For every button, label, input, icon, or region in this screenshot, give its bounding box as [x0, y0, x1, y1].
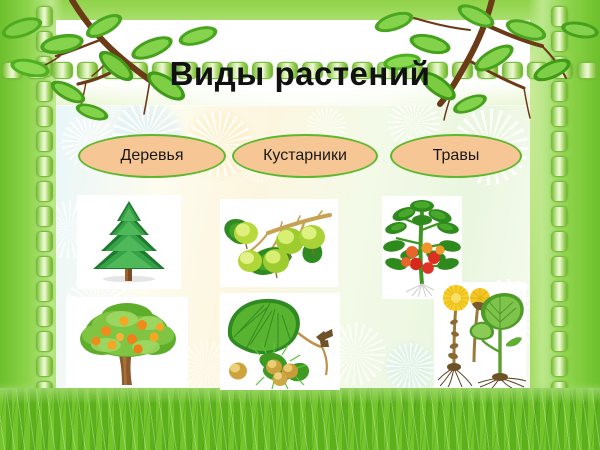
daisy-star-icon: [386, 343, 434, 391]
category-label: Травы: [433, 147, 480, 165]
category-label: Деревья: [120, 147, 183, 165]
picture-tile-coltsfoot-herb[interactable]: [434, 282, 526, 388]
category-chip-herbs[interactable]: Травы: [390, 134, 522, 178]
category-label: Кустарники: [263, 147, 347, 165]
grass-decoration: [0, 388, 600, 450]
picture-tile-hazel-shrub[interactable]: [220, 293, 340, 390]
picture-tile-apple-tree[interactable]: [66, 297, 188, 387]
page-title: Виды растений: [0, 57, 600, 90]
category-chip-shrubs[interactable]: Кустарники: [232, 134, 378, 178]
picture-tile-gooseberry-bush[interactable]: [220, 199, 338, 287]
picture-tile-spruce-tree[interactable]: [77, 195, 181, 289]
category-row: Деревья Кустарники Травы: [56, 134, 530, 182]
category-chip-trees[interactable]: Деревья: [78, 134, 226, 178]
slide-canvas: Виды растений Деревья Кустарники Травы: [0, 0, 600, 450]
